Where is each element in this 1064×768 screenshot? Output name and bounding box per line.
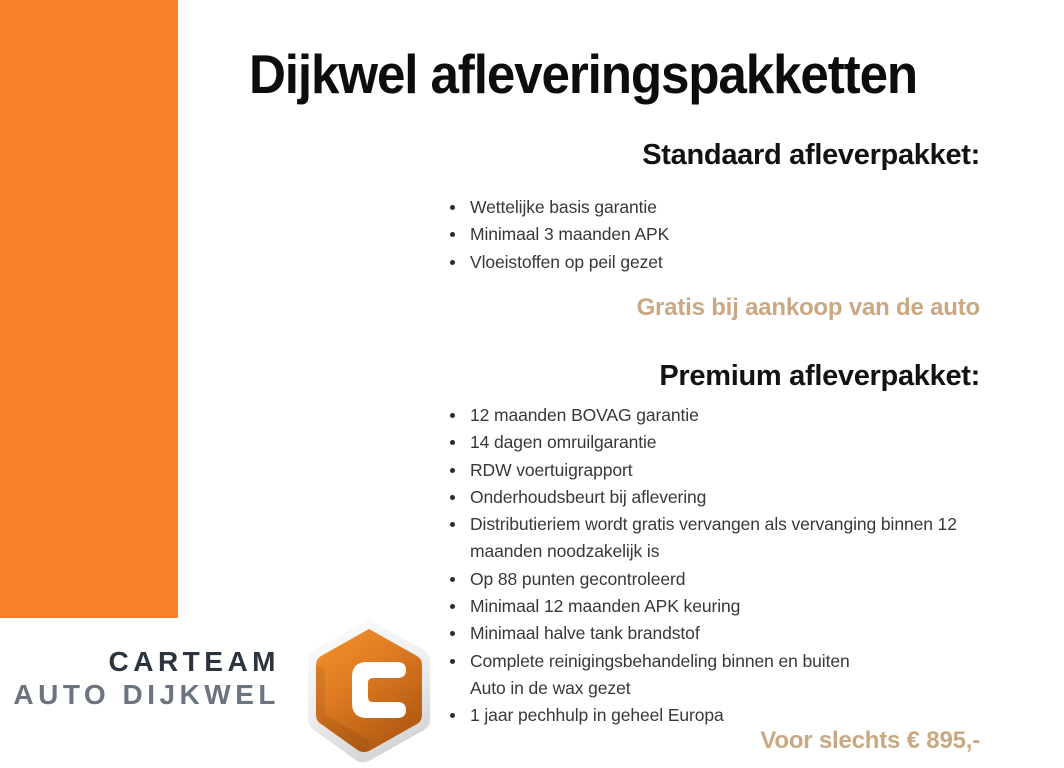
brand-name-carteam: CARTEAM xyxy=(8,645,280,678)
list-item-continuation: Auto in de wax gezet xyxy=(449,675,994,702)
list-item: Onderhoudsbeurt bij aflevering xyxy=(449,484,994,511)
premium-package-list: 12 maanden BOVAG garantie 14 dagen omrui… xyxy=(449,402,994,730)
brand-name-auto-dijkwel: AUTO DIJKWEL xyxy=(8,678,280,711)
list-item: Distributieriem wordt gratis vervangen a… xyxy=(449,511,994,566)
list-item: 12 maanden BOVAG garantie xyxy=(449,402,994,429)
poster-root: Dijkwel afleveringspakketten Standaard a… xyxy=(0,0,1064,768)
list-item: Minimaal 3 maanden APK xyxy=(449,221,994,248)
carteam-hexagon-c-logo-icon xyxy=(305,617,433,763)
premium-package-heading: Premium afleverpakket: xyxy=(360,359,980,393)
orange-accent-bar xyxy=(0,0,178,618)
standard-package-heading: Standaard afleverpakket: xyxy=(360,138,980,172)
list-item: 14 dagen omruilgarantie xyxy=(449,429,994,456)
list-item: Op 88 punten gecontroleerd xyxy=(449,566,994,593)
list-item: Wettelijke basis garantie xyxy=(449,194,994,221)
standard-package-list: Wettelijke basis garantie Minimaal 3 maa… xyxy=(449,194,994,276)
list-item: Vloeistoffen op peil gezet xyxy=(449,249,994,276)
list-item: RDW voertuigrapport xyxy=(449,457,994,484)
page-title: Dijkwel afleveringspakketten xyxy=(206,44,959,104)
list-item: Minimaal halve tank brandstof xyxy=(449,620,994,647)
brand-wordmark: CARTEAM AUTO DIJKWEL xyxy=(8,645,280,711)
list-item: Complete reinigingsbehandeling binnen en… xyxy=(449,648,994,675)
standard-package-promo: Gratis bij aankoop van de auto xyxy=(280,293,980,323)
list-item: Minimaal 12 maanden APK keuring xyxy=(449,593,994,620)
